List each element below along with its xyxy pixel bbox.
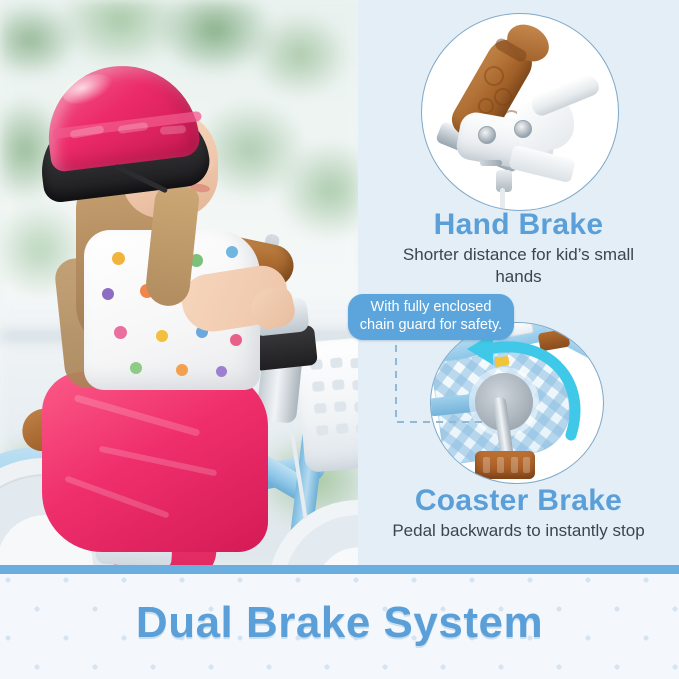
callout-line-1: With fully enclosed — [357, 299, 505, 317]
hand-brake-heading: Hand Brake — [358, 208, 679, 242]
coaster-brake-description: Pedal backwards to instantly stop — [378, 520, 659, 542]
child-pants — [42, 372, 268, 552]
lifestyle-photo — [0, 0, 360, 566]
chain-guard-callout-badge: With fully enclosed chain guard for safe… — [348, 294, 514, 340]
callout-leader-line — [340, 326, 510, 436]
callout-line-2: chain guard for safety. — [357, 317, 505, 335]
bottom-banner: Dual Brake System — [0, 574, 679, 679]
feature-panel: Hand Brake Shorter distance for kid’s sm… — [358, 0, 679, 566]
lever-screw-right — [514, 120, 532, 138]
section-divider — [0, 565, 679, 574]
hand-brake-lever-icon — [421, 13, 619, 211]
lever-pin — [480, 160, 502, 166]
banner-title: Dual Brake System — [0, 598, 679, 648]
lever-screw-left — [478, 126, 496, 144]
product-feature-infographic: Hand Brake Shorter distance for kid’s sm… — [0, 0, 679, 679]
brown-pedal — [475, 451, 535, 479]
pedal-clip — [538, 329, 571, 352]
coaster-brake-heading: Coaster Brake — [358, 484, 679, 518]
hand-brake-description: Shorter distance for kid’s small hands — [378, 244, 659, 289]
